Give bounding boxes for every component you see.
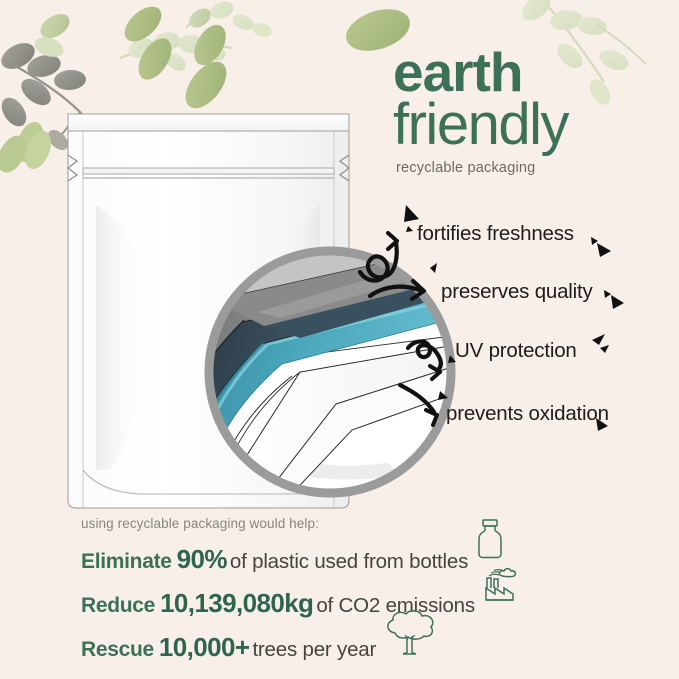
stat-verb: Rescue bbox=[81, 638, 154, 661]
stat-verb: Reduce bbox=[81, 594, 155, 617]
stat-number: 10,000+ bbox=[159, 632, 250, 662]
stat-number: 10,139,080kg bbox=[160, 588, 313, 618]
factory-icon bbox=[478, 566, 522, 608]
stat-row-reduce: Reduce10,139,080kgof CO2 emissions bbox=[81, 588, 601, 619]
stat-tail: trees per year bbox=[252, 638, 376, 661]
stats-block: using recyclable packaging would help: E… bbox=[81, 516, 601, 663]
stat-number: 90% bbox=[177, 544, 227, 574]
bottle-icon bbox=[472, 517, 508, 561]
infographic-canvas: earth friendly recyclable packaging fort… bbox=[0, 0, 679, 679]
stat-verb: Eliminate bbox=[81, 550, 172, 573]
stat-row-rescue: Rescue10,000+trees per year bbox=[81, 632, 601, 663]
feature-label-fortifies-freshness: fortifies freshness bbox=[417, 222, 574, 246]
feature-label-uv-protection: UV protection bbox=[455, 339, 577, 363]
stat-row-eliminate: Eliminate90%of plastic used from bottles bbox=[81, 544, 601, 575]
stats-intro-text: using recyclable packaging would help: bbox=[81, 516, 601, 531]
feature-label-prevents-oxidation: prevents oxidation bbox=[446, 402, 609, 426]
headline-block: earth friendly recyclable packaging bbox=[393, 46, 668, 176]
feature-label-preserves-quality: preserves quality bbox=[441, 280, 593, 304]
headline-subtitle: recyclable packaging bbox=[396, 160, 668, 176]
tree-icon bbox=[379, 609, 441, 659]
title-line-friendly: friendly bbox=[393, 96, 668, 154]
stat-tail: of plastic used from bottles bbox=[230, 550, 468, 573]
